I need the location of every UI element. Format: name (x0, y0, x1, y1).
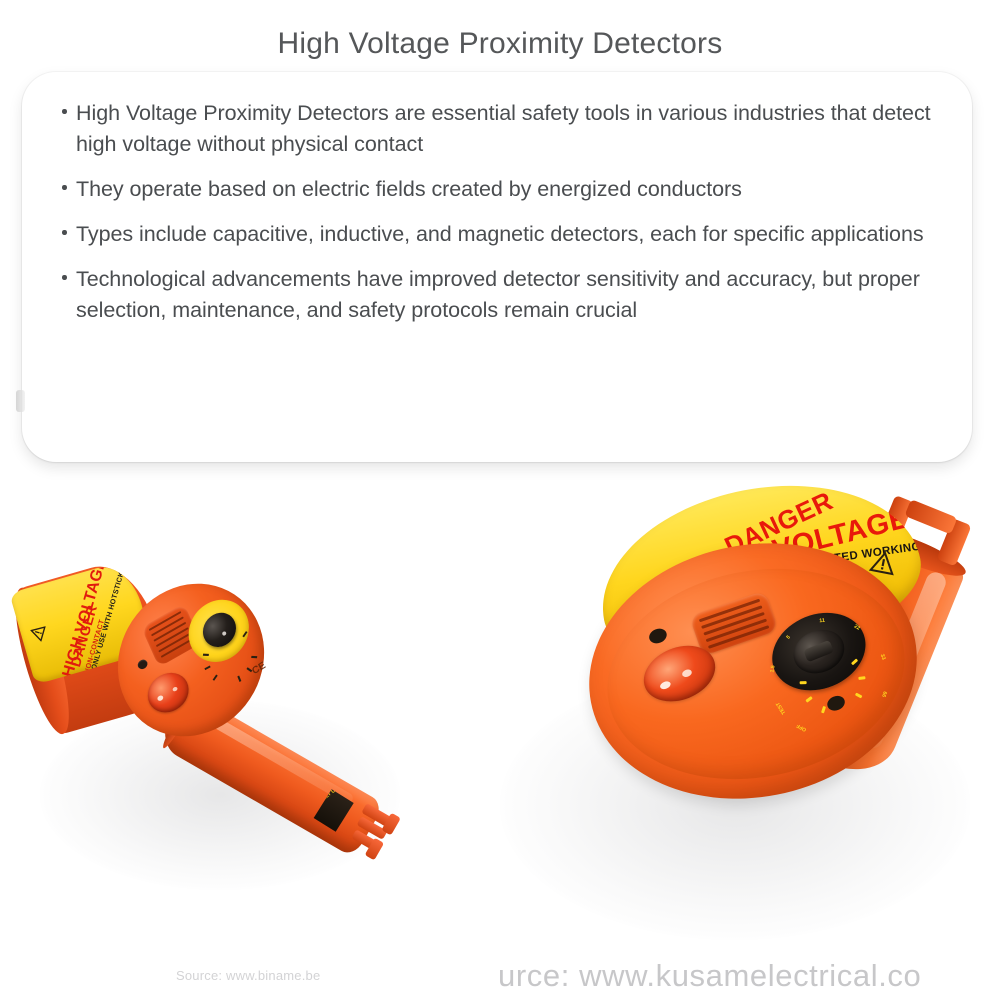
dial-label-off: OFF (796, 722, 808, 732)
page-title: High Voltage Proximity Detectors (0, 26, 1000, 62)
dial-label-1: 1.5 (769, 665, 776, 673)
info-card: High Voltage Proximity Detectors are ess… (22, 72, 972, 462)
detector-left-screw-hole (137, 658, 149, 670)
source-watermark-left: Source: www.biname.be (176, 968, 320, 983)
dial-label-4: 22 (853, 624, 861, 632)
bullet-text: High Voltage Proximity Detectors are ess… (76, 101, 931, 156)
detector-right-speaker-grille (689, 590, 778, 656)
bullet-text: Technological advancements have improved… (76, 267, 920, 322)
list-item: High Voltage Proximity Detectors are ess… (62, 98, 942, 160)
bullet-list: High Voltage Proximity Detectors are ess… (62, 98, 942, 326)
detector-right-screw-hole-bottom (825, 693, 847, 713)
dial-label-2: 5 (786, 634, 792, 640)
detector-right-dial: OFF TEST 1.5 5 11 22 33 66 (761, 599, 878, 704)
warning-triangle-icon (868, 549, 898, 577)
list-item: Technological advancements have improved… (62, 264, 942, 326)
dial-label-3: 11 (819, 618, 825, 625)
detector-right: DANGER HIGH VOLTAGE USE WITH HOTSTICK AT… (470, 475, 1000, 975)
detector-left-ce-mark: CE (251, 660, 268, 677)
warning-triangle-icon (28, 623, 46, 642)
dial-label-6: 66 (880, 690, 887, 697)
bullet-text: They operate based on electric fields cr… (76, 177, 742, 201)
bullet-dot-icon (62, 275, 67, 280)
list-item: Types include capacitive, inductive, and… (62, 219, 942, 250)
source-watermark-right: urce: www.kusamelectrical.co (498, 958, 921, 994)
card-left-nub (16, 390, 25, 412)
detector-left: ONLY USE WITH HOT STICK DANGER (20, 550, 440, 950)
detector-left-dial (180, 589, 258, 673)
bullet-dot-icon (62, 185, 67, 190)
bullet-dot-icon (62, 230, 67, 235)
detector-right-screw-hole-top (647, 626, 669, 646)
detector-left-indicator-lens (144, 667, 193, 718)
bullet-dot-icon (62, 109, 67, 114)
bullet-text: Types include capacitive, inductive, and… (76, 222, 924, 246)
detector-left-selector-knob[interactable] (198, 607, 241, 653)
dial-label-test: TEST (775, 701, 787, 715)
detector-left-hotstick-band: ONLY USE WITH HOT STICK (314, 789, 354, 832)
detector-left-fork-tip (341, 798, 405, 868)
hotstick-band-text: ONLY USE WITH HOT STICK (318, 789, 354, 804)
list-item: They operate based on electric fields cr… (62, 174, 942, 205)
product-photo-area: ONLY USE WITH HOT STICK DANGER (0, 470, 1000, 1000)
detector-right-selector-knob[interactable] (787, 622, 851, 680)
dial-label-5: 33 (879, 653, 887, 660)
